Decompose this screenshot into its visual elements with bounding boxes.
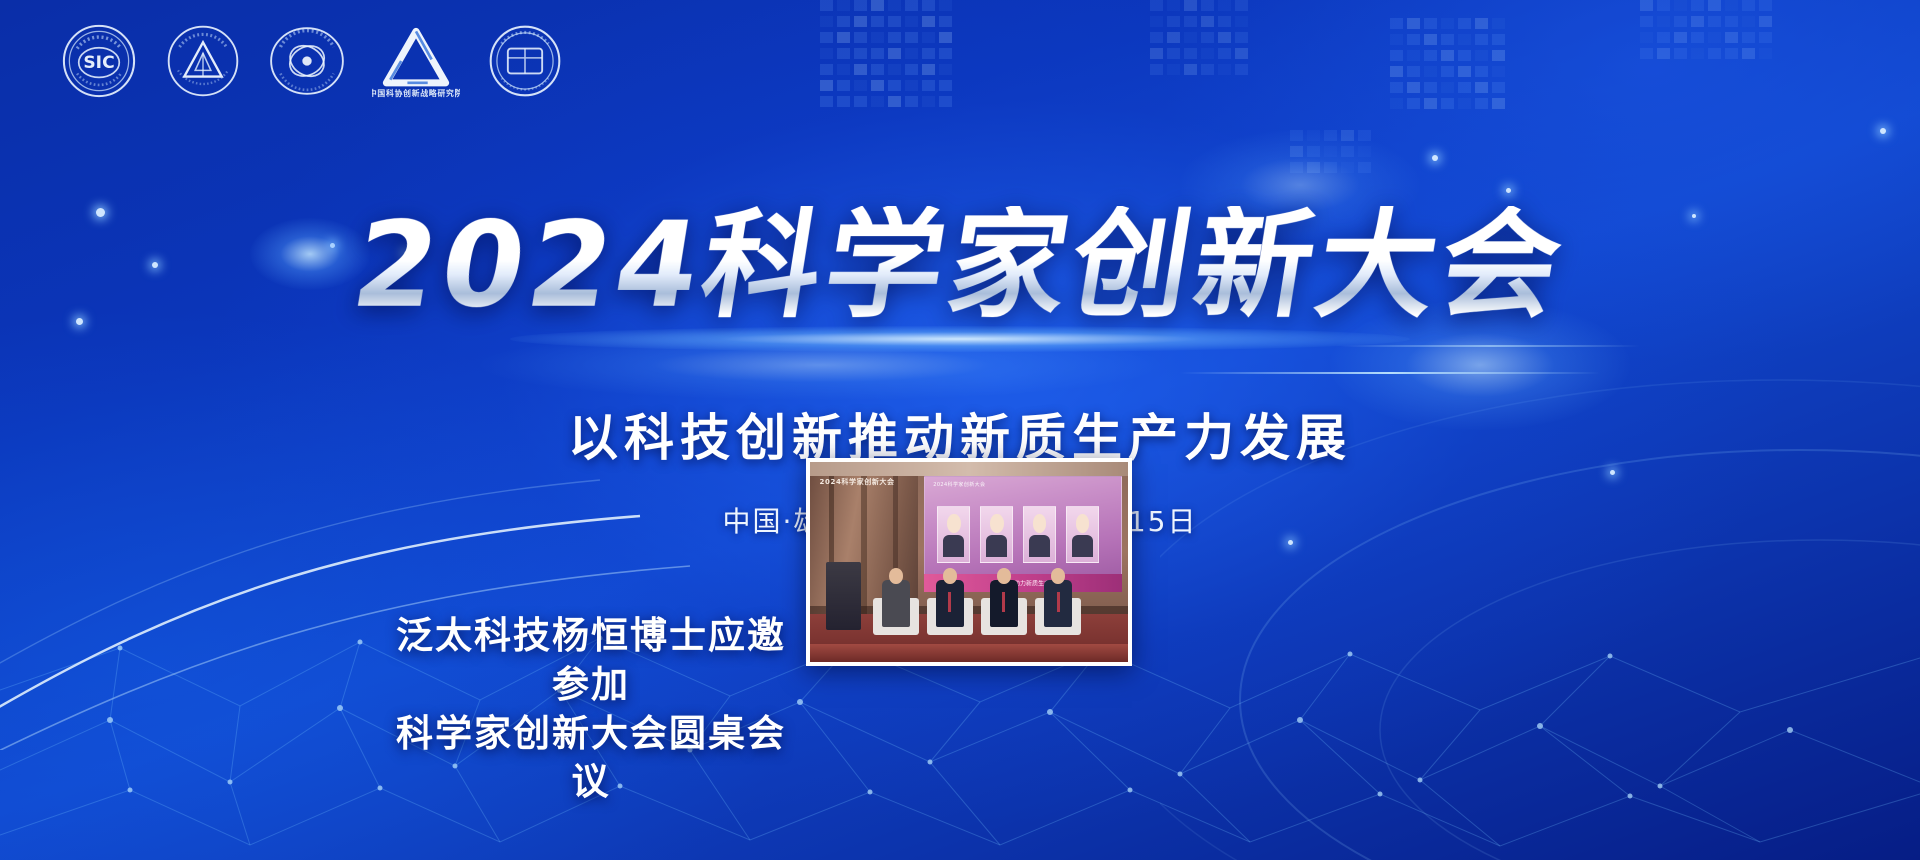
pixel-block-3 <box>1390 18 1505 114</box>
photo-podium <box>826 562 861 630</box>
caption-line-1: 泛太科技杨恒博士应邀参加 <box>386 612 796 710</box>
photo-speaker-portrait <box>1066 506 1099 563</box>
pixel-block-5 <box>1290 130 1371 178</box>
page-title: 2024科学家创新大会 <box>346 206 1574 324</box>
svg-text:SIC: SIC <box>83 53 114 73</box>
photo-panelist <box>1039 568 1077 628</box>
pixel-block-4 <box>1640 0 1772 64</box>
headline-block: 2024科学家创新大会 <box>0 206 1920 324</box>
glow-dot <box>1880 128 1886 134</box>
circle-seal-logo <box>486 22 564 100</box>
photo-panelist <box>985 568 1023 628</box>
glow-dot <box>1288 540 1293 545</box>
light-streak <box>1340 345 1640 347</box>
photo-carpet <box>810 644 1128 662</box>
photo-person-tie <box>948 592 951 612</box>
caption-line-2: 科学家创新大会圆桌会议 <box>386 710 796 808</box>
photo-speaker-portrait <box>937 506 970 563</box>
conference-panel-photo: 2024科学家创新大会 2024科学家创新大会 人工智能助力新质生产力 <box>806 458 1132 666</box>
triangle-mark-logo: 中国科协创新战略研究院 <box>372 22 460 100</box>
title-glow <box>510 326 1410 352</box>
glow-dot <box>1506 188 1511 193</box>
logo-bar: SIC <box>60 22 564 100</box>
caption-block: 泛太科技杨恒博士应邀参加 科学家创新大会圆桌会议 <box>386 612 796 807</box>
pixel-block-1 <box>820 0 952 112</box>
photo-top-band <box>810 462 1128 476</box>
photo-person-tie <box>1057 592 1060 612</box>
conference-banner: SIC <box>0 0 1920 860</box>
sic-seal-logo: SIC <box>60 22 138 100</box>
glow-dot <box>1610 470 1615 475</box>
photo-person-head <box>1051 568 1065 584</box>
glow-dot <box>1432 155 1438 161</box>
photo-person-head <box>889 568 903 584</box>
photo-speaker-portrait <box>980 506 1013 563</box>
light-streak <box>1180 372 1600 374</box>
photo-header-text: 2024科学家创新大会 <box>820 477 895 487</box>
photo-screen-title: 2024科学家创新大会 <box>933 481 985 488</box>
horizon-arcs <box>1160 300 1920 860</box>
atom-seal-logo <box>268 22 346 100</box>
photo-person-head <box>997 568 1011 584</box>
photo-person-body <box>882 580 909 627</box>
svg-text:中国科协创新战略研究院: 中国科协创新战略研究院 <box>372 88 460 98</box>
photo-person-tie <box>1002 592 1005 612</box>
pixel-block-2 <box>1150 0 1248 80</box>
photo-panelist <box>931 568 969 628</box>
photo-speaker-portrait <box>1023 506 1056 563</box>
triangle-seal-logo <box>164 22 242 100</box>
photo-person-head <box>943 568 957 584</box>
photo-panelist <box>877 568 915 628</box>
